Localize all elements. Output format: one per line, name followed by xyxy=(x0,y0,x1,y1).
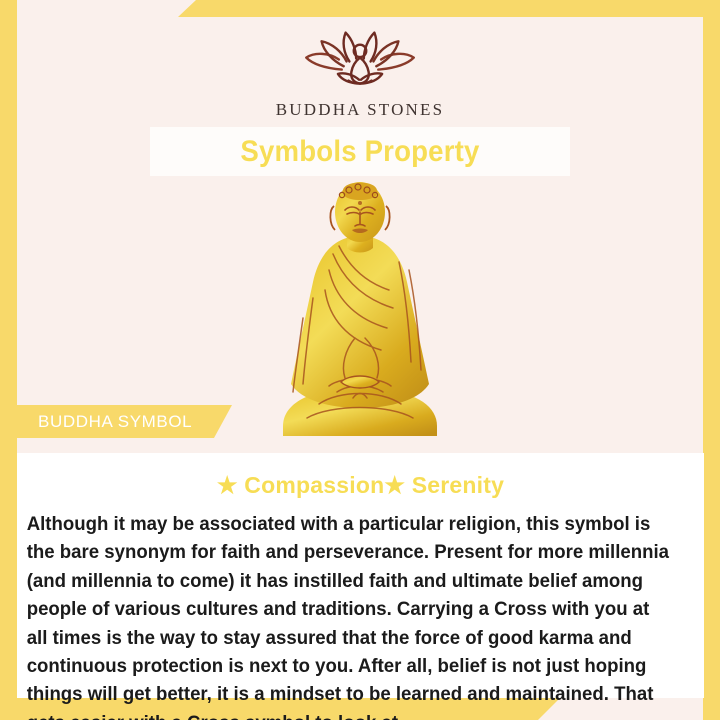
body-paragraph: Although it may be associated with a par… xyxy=(17,511,683,720)
content-card: ★ Compassion★ Serenity Although it may b… xyxy=(17,453,704,698)
golden-seated-buddha-illustration xyxy=(269,178,451,446)
lotus-meditation-icon xyxy=(285,24,435,96)
brand-logo: BUDDHA STONES xyxy=(0,24,720,120)
frame-top-bar xyxy=(178,0,720,17)
virtues-heading: ★ Compassion★ Serenity xyxy=(17,472,704,499)
buddha-symbol-ribbon: BUDDHA SYMBOL xyxy=(10,405,232,438)
poster-root: BUDDHA STONES Symbols Property xyxy=(0,0,720,720)
ribbon-label: BUDDHA SYMBOL xyxy=(38,412,192,432)
page-title: Symbols Property xyxy=(240,135,479,169)
title-plate: Symbols Property xyxy=(150,127,570,176)
brand-name: BUDDHA STONES xyxy=(276,100,445,120)
